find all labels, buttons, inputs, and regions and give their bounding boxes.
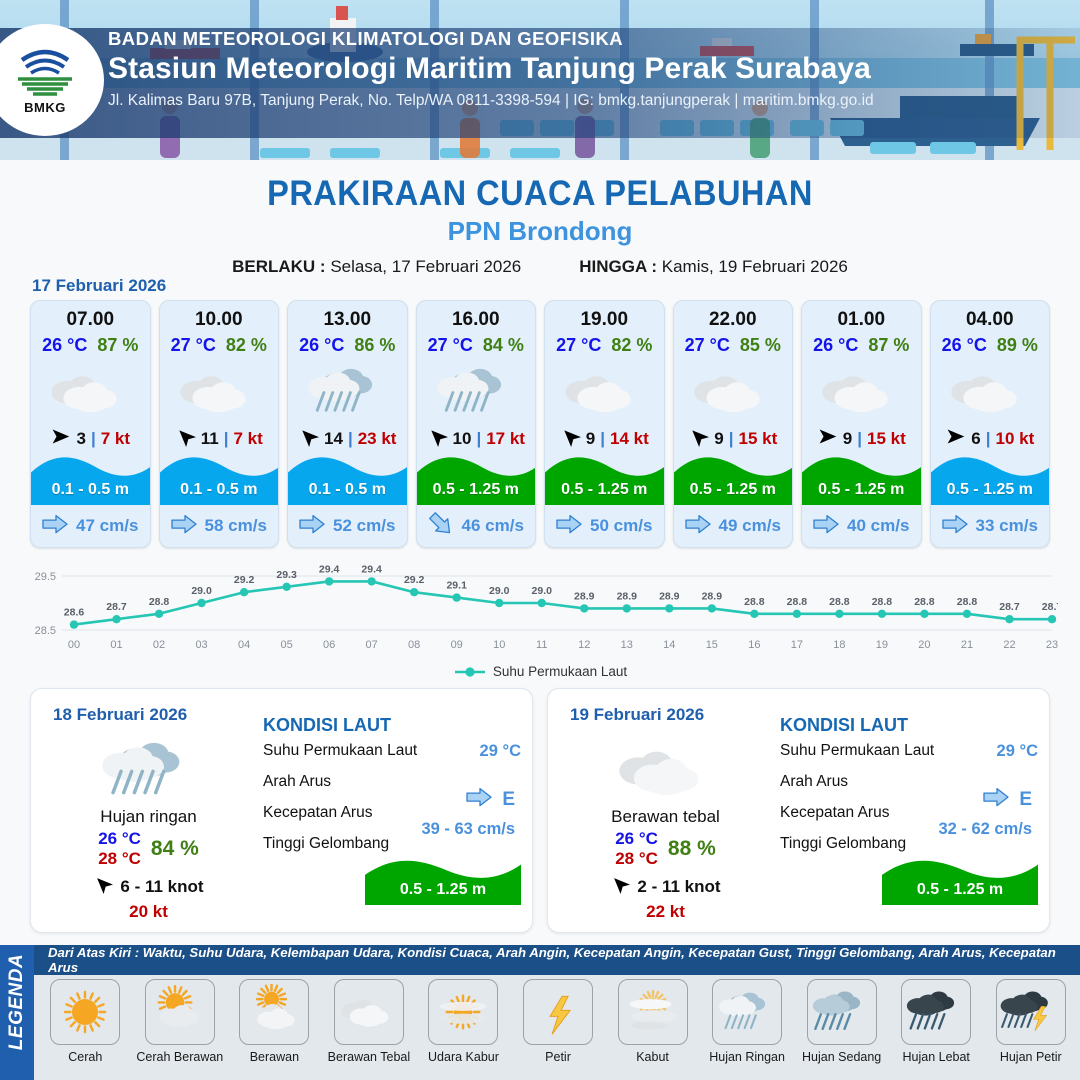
sea-row-label: Suhu Permukaan Laut [780, 742, 934, 759]
daily-temp-hum-row: 26 °C 28 °C 84 % [41, 829, 256, 869]
current-direction-arrow-icon [299, 514, 325, 539]
svg-text:28.8: 28.8 [957, 596, 978, 608]
sea-row-current-speed: Kecepatan Arus 39 - 63 cm/s [263, 804, 525, 835]
sea-row-label: Arah Arus [780, 773, 848, 790]
legend-item-label: Hujan Petir [983, 1050, 1078, 1064]
legend-kabut-icon [618, 979, 688, 1045]
title-block: PRAKIRAAN CUACA PELABUHAN PPN Brondong B… [0, 160, 1080, 277]
daily-wave-height: 0.5 - 1.25 m [365, 881, 521, 899]
svg-text:23: 23 [1046, 639, 1058, 651]
page-title: PRAKIRAAN CUACA PELABUHAN [38, 174, 1042, 214]
svg-text:02: 02 [153, 639, 165, 651]
legend-hujan-sedang-icon [807, 979, 877, 1045]
svg-text:22: 22 [1003, 639, 1015, 651]
daily-temp-max: 28 °C [615, 849, 658, 869]
hingga-value: Kamis, 19 Februari 2026 [662, 257, 848, 276]
legend-berawan-icon [334, 979, 404, 1045]
card-current-speed: 40 cm/s [847, 516, 909, 536]
card-wave-height: 0.5 - 1.25 m [545, 481, 664, 499]
card-current-speed: 58 cm/s [205, 516, 267, 536]
station-name: Stasiun Meteorologi Maritim Tanjung Pera… [108, 52, 874, 86]
svg-text:29.0: 29.0 [532, 585, 553, 597]
card-wind-speed: 9 [586, 429, 595, 449]
wind-direction-arrow-icon [93, 874, 113, 899]
weather-berawan-icon [545, 358, 664, 420]
card-humidity: 87 % [868, 335, 909, 356]
svg-text:20: 20 [918, 639, 930, 651]
sea-condition-title: KONDISI LAUT [263, 715, 525, 736]
card-temp-hum-row: 26 °C 89 % [931, 335, 1050, 356]
card-current-row: 33 cm/s [931, 514, 1050, 539]
legend-item-label: Cerah Berawan [133, 1050, 228, 1064]
svg-text:16: 16 [748, 639, 760, 651]
legend-hujan-petir-icon [996, 979, 1066, 1045]
card-current-speed: 52 cm/s [333, 516, 395, 536]
svg-text:08: 08 [408, 639, 420, 651]
sea-row-sst: Suhu Permukaan Laut 29 °C [263, 742, 525, 773]
svg-text:19: 19 [876, 639, 888, 651]
card-wind-speed: 11 [201, 429, 219, 449]
weather-berawan-icon [31, 358, 150, 420]
daily-forecast-panel: 19 Februari 2026 Berawan tebal 26 °C 28 … [547, 688, 1050, 933]
daily-wave-band: 0.5 - 1.25 m [882, 853, 1038, 905]
legend-petir-icon [523, 979, 593, 1045]
weather-berawan-icon [160, 358, 279, 420]
sea-row-sst: Suhu Permukaan Laut 29 °C [780, 742, 1042, 773]
legend-item-label: Hujan Ringan [700, 1050, 795, 1064]
legend-item-label: Cerah [38, 1050, 133, 1064]
card-wind-speed: 14 [324, 429, 343, 449]
card-current-row: 58 cm/s [160, 514, 279, 539]
card-wind-speed: 3 [76, 429, 85, 449]
weather-hujan-ringan-icon [417, 358, 536, 420]
svg-text:10: 10 [493, 639, 505, 651]
weather-berawan-icon [931, 358, 1050, 420]
svg-text:04: 04 [238, 639, 250, 651]
legend-item: Berawan [227, 979, 322, 1064]
card-wave-height: 0.1 - 0.5 m [160, 481, 279, 499]
wind-separator: | [476, 429, 481, 449]
svg-text:29.1: 29.1 [446, 580, 467, 592]
sea-row-current-direction: Arah Arus E [263, 773, 525, 804]
legend-item: Berawan Tebal [322, 979, 417, 1064]
daily-temps: 26 °C 28 °C [615, 829, 658, 869]
card-current-row: 47 cm/s [31, 514, 150, 539]
svg-text:29.4: 29.4 [319, 563, 340, 575]
daily-left-block: Berawan tebal 26 °C 28 °C 88 % 2 - 11 kn… [558, 731, 773, 922]
sea-row-label: Tinggi Gelombang [263, 835, 389, 852]
card-time: 01.00 [802, 309, 921, 331]
weather-hujan-ringan-icon [41, 731, 256, 803]
card-wave-height: 0.5 - 1.25 m [802, 481, 921, 499]
svg-text:28.8: 28.8 [829, 596, 850, 608]
weather-berawan-icon [674, 358, 793, 420]
card-wave-band: 0.5 - 1.25 m [674, 449, 793, 505]
card-gust-speed: 7 kt [101, 429, 130, 449]
card-current-speed: 46 cm/s [462, 516, 524, 536]
svg-text:28.9: 28.9 [659, 590, 680, 602]
card-current-row: 40 cm/s [802, 514, 921, 539]
card-temperature: 26 °C [42, 335, 87, 356]
contact-info: Jl. Kalimas Baru 97B, Tanjung Perak, No.… [108, 92, 874, 110]
card-temp-hum-row: 27 °C 82 % [160, 335, 279, 356]
wind-separator: | [348, 429, 353, 449]
card-time: 19.00 [545, 309, 664, 331]
wind-separator: | [600, 429, 605, 449]
legend-item: Hujan Ringan [700, 979, 795, 1064]
berlaku-group: BERLAKU : Selasa, 17 Februari 2026 [232, 257, 521, 277]
legend-item-label: Hujan Sedang [794, 1050, 889, 1064]
hourly-card: 16.00 27 °C 84 % 10 | 17 kt 0.5 - 1.25 m [416, 300, 537, 548]
bmkg-logo-icon [14, 46, 76, 98]
legend-side-label: LEGENDA [6, 944, 28, 1060]
legend-hujan-lebat-icon [901, 979, 971, 1045]
svg-text:28.5: 28.5 [35, 625, 56, 637]
svg-text:11: 11 [536, 639, 547, 651]
legend-cerah-berawan-icon [145, 979, 215, 1045]
sea-row-label: Tinggi Gelombang [780, 835, 906, 852]
hourly-card: 04.00 26 °C 89 % 6 | 10 kt 0.5 - 1.25 m [930, 300, 1051, 548]
daily-gust: 20 kt [41, 902, 256, 922]
card-wave-height: 0.1 - 0.5 m [31, 481, 150, 499]
svg-text:28.8: 28.8 [872, 596, 893, 608]
sea-row-label: Arah Arus [263, 773, 331, 790]
svg-text:29.0: 29.0 [191, 585, 212, 597]
berlaku-value: Selasa, 17 Februari 2026 [330, 257, 521, 276]
svg-text:28.7: 28.7 [106, 601, 127, 613]
wind-separator: | [857, 429, 862, 449]
hourly-card: 22.00 27 °C 85 % 9 | 15 kt 0.5 - 1.25 m [673, 300, 794, 548]
card-humidity: 82 % [611, 335, 652, 356]
card-humidity: 89 % [997, 335, 1038, 356]
validity-row: BERLAKU : Selasa, 17 Februari 2026 HINGG… [0, 257, 1080, 277]
card-gust-speed: 7 kt [233, 429, 262, 449]
current-direction-arrow-icon [813, 514, 839, 539]
card-temp-hum-row: 27 °C 82 % [545, 335, 664, 356]
svg-text:03: 03 [195, 639, 207, 651]
sea-condition-block: KONDISI LAUT Suhu Permukaan Laut 29 °C A… [263, 715, 525, 866]
sea-row-value: 29 °C [997, 742, 1038, 761]
card-gust-speed: 10 kt [995, 429, 1034, 449]
card-temperature: 26 °C [813, 335, 858, 356]
svg-text:05: 05 [280, 639, 292, 651]
daily-date: 19 Februari 2026 [570, 705, 704, 725]
daily-temp-max: 28 °C [98, 849, 141, 869]
current-direction-arrow-icon [942, 514, 968, 539]
card-wave-height: 0.5 - 1.25 m [417, 481, 536, 499]
svg-text:12: 12 [578, 639, 590, 651]
card-temperature: 27 °C [556, 335, 601, 356]
wind-separator: | [986, 429, 991, 449]
legend-item-label: Hujan Lebat [889, 1050, 984, 1064]
svg-text:01: 01 [110, 639, 122, 651]
daily-left-block: Hujan ringan 26 °C 28 °C 84 % 6 - 11 kno… [41, 731, 256, 922]
card-gust-speed: 14 kt [610, 429, 649, 449]
card-wave-height: 0.5 - 1.25 m [931, 481, 1050, 499]
wind-separator: | [91, 429, 96, 449]
legend-item-label: Kabut [605, 1050, 700, 1064]
card-current-row: 50 cm/s [545, 514, 664, 539]
legend-item: Cerah [38, 979, 133, 1064]
hourly-card: 13.00 26 °C 86 % 14 | 23 kt 0.1 - 0.5 m [287, 300, 408, 548]
svg-text:18: 18 [833, 639, 845, 651]
card-current-row: 52 cm/s [288, 514, 407, 539]
hingga-label: HINGGA : [579, 257, 657, 276]
legend-items: Cerah Cerah Berawan Berawan Berawa [38, 979, 1078, 1064]
daily-temps: 26 °C 28 °C [98, 829, 141, 869]
current-direction-arrow-icon [42, 514, 68, 539]
svg-text:28.9: 28.9 [702, 590, 723, 602]
current-direction-arrow-icon [171, 514, 197, 539]
svg-text:28.8: 28.8 [744, 596, 765, 608]
card-current-row: 46 cm/s [417, 514, 536, 539]
legend-item: Kabut [605, 979, 700, 1064]
card-time: 16.00 [417, 309, 536, 331]
card-humidity: 84 % [483, 335, 524, 356]
card-humidity: 85 % [740, 335, 781, 356]
daily-date: 18 Februari 2026 [53, 705, 187, 725]
svg-text:00: 00 [68, 639, 80, 651]
card-humidity: 86 % [354, 335, 395, 356]
legend-strip: LEGENDA Dari Atas Kiri : Waktu, Suhu Uda… [0, 945, 1080, 1080]
legend-item: Petir [511, 979, 606, 1064]
card-wave-band: 0.5 - 1.25 m [545, 449, 664, 505]
svg-text:28.9: 28.9 [574, 590, 595, 602]
card-wave-height: 0.5 - 1.25 m [674, 481, 793, 499]
daily-wind-range: 6 - 11 knot [120, 877, 203, 897]
hingga-group: HINGGA : Kamis, 19 Februari 2026 [579, 257, 848, 277]
chart-legend-label: Suhu Permukaan Laut [493, 664, 627, 679]
chart-legend-marker [453, 666, 487, 678]
berlaku-label: BERLAKU : [232, 257, 326, 276]
sea-row-current-direction: Arah Arus E [780, 773, 1042, 804]
sea-row-label: Kecepatan Arus [263, 804, 372, 821]
svg-text:17: 17 [791, 639, 803, 651]
card-wave-band: 0.1 - 0.5 m [160, 449, 279, 505]
page-subtitle: PPN Brondong [0, 216, 1080, 247]
daily-forecast-panel: 18 Februari 2026 Hujan ringan 26 °C 28 °… [30, 688, 533, 933]
sea-row-current-speed: Kecepatan Arus 32 - 62 cm/s [780, 804, 1042, 835]
hourly-forecast-row: 07.00 26 °C 87 % 3 | 7 kt 0.1 - 0.5 m [30, 300, 1050, 548]
weather-berawan-icon [802, 358, 921, 420]
card-wave-band: 0.5 - 1.25 m [931, 449, 1050, 505]
wind-direction-arrow-icon [610, 874, 630, 899]
card-gust-speed: 15 kt [867, 429, 906, 449]
legend-hujan-ringan-icon [712, 979, 782, 1045]
daily-temp-min: 26 °C [615, 829, 658, 849]
weather-hujan-ringan-icon [288, 358, 407, 420]
svg-text:29.0: 29.0 [489, 585, 510, 597]
card-wave-band: 0.1 - 0.5 m [288, 449, 407, 505]
svg-text:07: 07 [366, 639, 378, 651]
current-direction-arrow-icon [685, 514, 711, 539]
svg-text:29.5: 29.5 [35, 571, 56, 583]
card-wave-band: 0.5 - 1.25 m [802, 449, 921, 505]
daily-condition: Berawan tebal [558, 807, 773, 827]
legend-note: Dari Atas Kiri : Waktu, Suhu Udara, Kele… [34, 945, 1080, 975]
hourly-card: 19.00 27 °C 82 % 9 | 14 kt 0.5 - 1.25 m [544, 300, 665, 548]
chart-legend: Suhu Permukaan Laut [0, 664, 1080, 679]
card-time: 04.00 [931, 309, 1050, 331]
svg-text:28.8: 28.8 [787, 596, 808, 608]
daily-humidity: 88 % [668, 837, 716, 861]
hourly-card: 10.00 27 °C 82 % 11 | 7 kt 0.1 - 0.5 m [159, 300, 280, 548]
wind-separator: | [224, 429, 229, 449]
legend-item-label: Petir [511, 1050, 606, 1064]
sst-chart: 29.528.528.60028.70128.80229.00329.20429… [22, 558, 1058, 668]
page-header: BMKG BADAN METEOROLOGI KLIMATOLOGI DAN G… [0, 0, 1080, 160]
svg-text:21: 21 [961, 639, 973, 651]
svg-text:28.6: 28.6 [64, 607, 85, 619]
card-temperature: 26 °C [299, 335, 344, 356]
legend-item: Hujan Lebat [889, 979, 984, 1064]
sea-row-value: 29 °C [480, 742, 521, 761]
daily-condition: Hujan ringan [41, 807, 256, 827]
card-wind-speed: 10 [453, 429, 472, 449]
svg-text:09: 09 [451, 639, 463, 651]
svg-text:28.8: 28.8 [149, 596, 170, 608]
daily-wind-row: 6 - 11 knot [41, 874, 256, 899]
svg-text:14: 14 [663, 639, 675, 651]
svg-text:29.2: 29.2 [404, 574, 425, 586]
svg-text:29.4: 29.4 [361, 563, 382, 575]
card-wind-speed: 9 [714, 429, 723, 449]
card-temp-hum-row: 27 °C 85 % [674, 335, 793, 356]
card-time: 13.00 [288, 309, 407, 331]
daily-wind-row: 2 - 11 knot [558, 874, 773, 899]
svg-text:28.7: 28.7 [1042, 601, 1058, 613]
card-wave-band: 0.5 - 1.25 m [417, 449, 536, 505]
current-direction-arrow-icon [556, 514, 582, 539]
svg-text:15: 15 [706, 639, 718, 651]
card-wave-band: 0.1 - 0.5 m [31, 449, 150, 505]
card-temperature: 27 °C [171, 335, 216, 356]
card-time: 10.00 [160, 309, 279, 331]
legend-item-label: Udara Kabur [416, 1050, 511, 1064]
card-temp-hum-row: 26 °C 86 % [288, 335, 407, 356]
card-temp-hum-row: 27 °C 84 % [417, 335, 536, 356]
legend-cerah-icon [50, 979, 120, 1045]
card-gust-speed: 15 kt [738, 429, 777, 449]
legend-item-label: Berawan Tebal [322, 1050, 417, 1064]
card-time: 07.00 [31, 309, 150, 331]
card-temperature: 27 °C [685, 335, 730, 356]
card-temp-hum-row: 26 °C 87 % [31, 335, 150, 356]
wind-separator: | [729, 429, 734, 449]
card-wave-height: 0.1 - 0.5 m [288, 481, 407, 499]
card-temp-hum-row: 26 °C 87 % [802, 335, 921, 356]
sea-condition-title: KONDISI LAUT [780, 715, 1042, 736]
sea-condition-block: KONDISI LAUT Suhu Permukaan Laut 29 °C A… [780, 715, 1042, 866]
svg-text:06: 06 [323, 639, 335, 651]
sst-chart-svg: 29.528.528.60028.70128.80229.00329.20429… [22, 558, 1058, 668]
header-text-block: BADAN METEOROLOGI KLIMATOLOGI DAN GEOFIS… [108, 28, 874, 110]
card-temperature: 27 °C [428, 335, 473, 356]
daily-gust: 22 kt [558, 902, 773, 922]
legend-item: Cerah Berawan [133, 979, 228, 1064]
card-current-speed: 47 cm/s [76, 516, 138, 536]
agency-name: BADAN METEOROLOGI KLIMATOLOGI DAN GEOFIS… [108, 28, 874, 50]
card-humidity: 82 % [226, 335, 267, 356]
daily-forecast-row: 18 Februari 2026 Hujan ringan 26 °C 28 °… [30, 688, 1050, 933]
card-time: 22.00 [674, 309, 793, 331]
sea-row-label: Kecepatan Arus [780, 804, 889, 821]
legend-side-bar: LEGENDA [0, 945, 34, 1080]
daily-humidity: 84 % [151, 837, 199, 861]
card-current-speed: 49 cm/s [719, 516, 781, 536]
sea-row-label: Suhu Permukaan Laut [263, 742, 417, 759]
weather-berawan-icon [558, 731, 773, 803]
current-direction-arrow-icon [428, 514, 454, 539]
legend-item: Udara Kabur [416, 979, 511, 1064]
card-current-speed: 33 cm/s [976, 516, 1038, 536]
svg-text:28.9: 28.9 [617, 590, 638, 602]
legend-udara-kabur-icon [428, 979, 498, 1045]
daily-wind-range: 2 - 11 knot [637, 877, 720, 897]
card-gust-speed: 17 kt [486, 429, 525, 449]
legend-item: Hujan Petir [983, 979, 1078, 1064]
svg-text:29.3: 29.3 [276, 569, 297, 581]
daily-wave-band: 0.5 - 1.25 m [365, 853, 521, 905]
card-gust-speed: 23 kt [358, 429, 397, 449]
bmkg-logo-text: BMKG [24, 100, 66, 115]
daily-temp-min: 26 °C [98, 829, 141, 849]
daily-temp-hum-row: 26 °C 28 °C 88 % [558, 829, 773, 869]
card-temperature: 26 °C [942, 335, 987, 356]
hourly-card: 07.00 26 °C 87 % 3 | 7 kt 0.1 - 0.5 m [30, 300, 151, 548]
card-current-row: 49 cm/s [674, 514, 793, 539]
legend-item-label: Berawan [227, 1050, 322, 1064]
hourly-date-label: 17 Februari 2026 [32, 276, 166, 296]
svg-text:28.8: 28.8 [914, 596, 935, 608]
svg-text:13: 13 [621, 639, 633, 651]
svg-text:29.2: 29.2 [234, 574, 255, 586]
svg-text:28.7: 28.7 [999, 601, 1020, 613]
card-humidity: 87 % [97, 335, 138, 356]
card-current-speed: 50 cm/s [590, 516, 652, 536]
legend-item: Hujan Sedang [794, 979, 889, 1064]
daily-wave-height: 0.5 - 1.25 m [882, 881, 1038, 899]
card-wind-speed: 6 [971, 429, 980, 449]
legend-berawan-sun-icon [239, 979, 309, 1045]
card-wind-speed: 9 [843, 429, 852, 449]
hourly-card: 01.00 26 °C 87 % 9 | 15 kt 0.5 - 1.25 m [801, 300, 922, 548]
